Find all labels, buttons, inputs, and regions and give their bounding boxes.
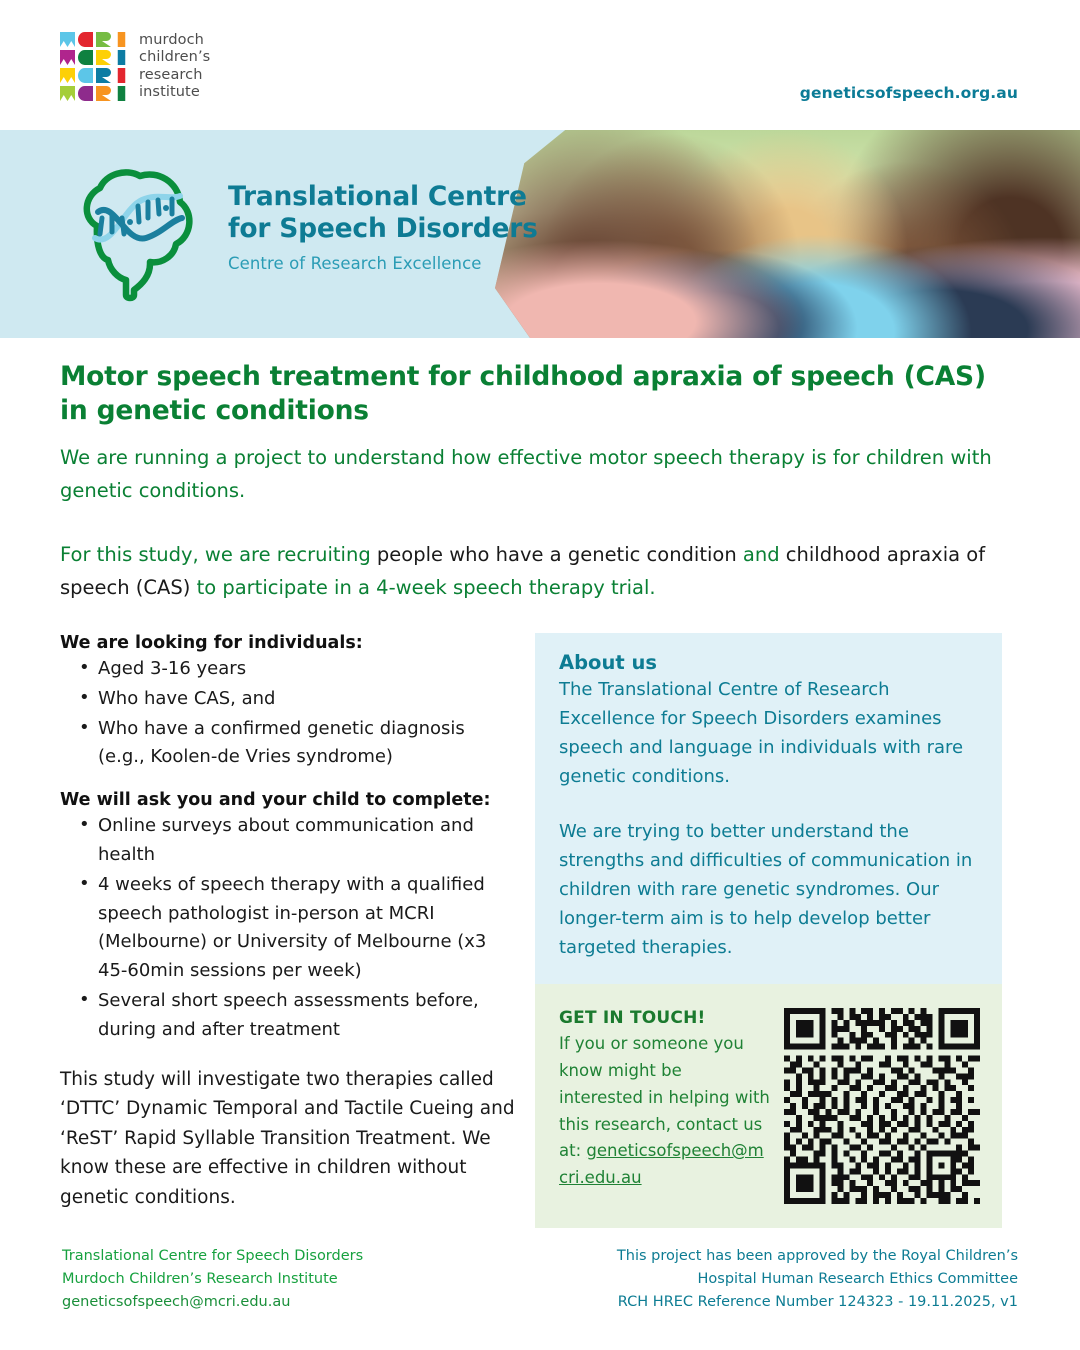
- complete-heading: We will ask you and your child to comple…: [60, 790, 517, 810]
- get-in-touch-text: GET IN TOUCH! If you or someone you know…: [559, 1008, 770, 1204]
- mcri-glyph-i: [114, 50, 129, 65]
- spacer: [60, 773, 517, 790]
- get-in-touch-body: If you or someone you know might be inte…: [559, 1031, 770, 1191]
- mcri-glyph-m: [60, 68, 75, 83]
- mcri-glyph-c: [78, 32, 93, 47]
- footer-email[interactable]: geneticsofspeech@mcri.edu.au: [62, 1291, 363, 1314]
- mcri-glyph-m: [60, 32, 75, 47]
- footer-ethics-line3: RCH HREC Reference Number 124323 - 19.11…: [617, 1291, 1018, 1314]
- tcsd-subtitle: Centre of Research Excellence: [228, 254, 538, 273]
- mcri-logo-wordmark: murdoch children’s research institute: [139, 32, 210, 100]
- closing-paragraph: This study will investigate two therapie…: [60, 1065, 517, 1213]
- footer: Translational Centre for Speech Disorder…: [0, 1245, 1080, 1314]
- footer-ethics-line1: This project has been approved by the Ro…: [617, 1245, 1018, 1268]
- top-bar: murdoch children’s research institute ge…: [0, 0, 1080, 130]
- mcri-word-2: children’s: [139, 49, 210, 66]
- mcri-word-1: murdoch: [139, 32, 210, 49]
- list-item: Several short speech assessments before,…: [62, 987, 517, 1045]
- list-item: Online surveys about communication and h…: [62, 812, 517, 870]
- tcsd-title-line1: Translational Centre: [228, 181, 538, 213]
- qr-code-image: [784, 1008, 980, 1204]
- get-in-touch-panel: GET IN TOUCH! If you or someone you know…: [535, 984, 1002, 1228]
- recruit-seg-1: For this study, we are recruiting: [60, 543, 377, 566]
- mcri-glyph-c: [78, 68, 93, 83]
- list-item: Who have CAS, and: [62, 685, 517, 714]
- mcri-logo-grid: [60, 32, 129, 101]
- complete-list: Online surveys about communication and h…: [62, 812, 517, 1044]
- website-url[interactable]: geneticsofspeech.org.au: [800, 84, 1018, 102]
- mcri-glyph-r: [96, 32, 111, 47]
- mcri-word-3: research: [139, 67, 210, 84]
- list-item: Who have a confirmed genetic diagnosis (…: [62, 715, 517, 773]
- recruit-seg-5: to participate in a 4-week speech therap…: [197, 576, 656, 599]
- qr-code[interactable]: [784, 1008, 980, 1204]
- mcri-glyph-r: [96, 68, 111, 83]
- list-item: Aged 3-16 years: [62, 655, 517, 684]
- footer-org-name: Translational Centre for Speech Disorder…: [62, 1245, 363, 1268]
- looking-for-heading: We are looking for individuals:: [60, 633, 517, 653]
- mcri-glyph-m: [60, 50, 75, 65]
- mcri-glyph-i: [114, 32, 129, 47]
- recruit-seg-2: people who have a genetic condition: [377, 543, 743, 566]
- about-us-heading: About us: [559, 651, 980, 674]
- intro-paragraph: We are running a project to understand h…: [60, 441, 1020, 508]
- mcri-glyph-m: [60, 86, 75, 101]
- two-column-layout: We are looking for individuals: Aged 3-1…: [60, 633, 1020, 1228]
- footer-ethics-approval: This project has been approved by the Ro…: [617, 1245, 1018, 1314]
- tcsd-logo: Translational Centre for Speech Disorder…: [62, 152, 538, 302]
- footer-contact: Translational Centre for Speech Disorder…: [62, 1245, 363, 1314]
- about-us-panel: About us The Translational Centre of Res…: [535, 633, 1002, 984]
- banner: Translational Centre for Speech Disorder…: [0, 130, 1080, 338]
- list-item: 4 weeks of speech therapy with a qualifi…: [62, 871, 517, 986]
- right-column: About us The Translational Centre of Res…: [535, 633, 1002, 1228]
- mcri-glyph-i: [114, 68, 129, 83]
- mcri-glyph-r: [96, 86, 111, 101]
- mcri-glyph-c: [78, 50, 93, 65]
- tcsd-title-line2: for Speech Disorders: [228, 213, 538, 245]
- contact-email-link[interactable]: geneticsofspeech@mcri.edu.au: [559, 1141, 764, 1187]
- mcri-logo[interactable]: murdoch children’s research institute: [60, 32, 210, 101]
- page-title: Motor speech treatment for childhood apr…: [60, 360, 1020, 429]
- recruitment-paragraph: For this study, we are recruiting people…: [60, 538, 1020, 605]
- children-photo: [495, 130, 1080, 338]
- mcri-glyph-r: [96, 50, 111, 65]
- mcri-glyph-c: [78, 86, 93, 101]
- footer-institute-name: Murdoch Children’s Research Institute: [62, 1268, 363, 1291]
- looking-for-list: Aged 3-16 years Who have CAS, and Who ha…: [62, 655, 517, 772]
- get-in-touch-heading: GET IN TOUCH!: [559, 1008, 770, 1028]
- tcsd-wordmark: Translational Centre for Speech Disorder…: [228, 181, 538, 273]
- brain-dna-icon: [62, 152, 212, 302]
- mcri-glyph-i: [114, 86, 129, 101]
- about-us-paragraph-2: We are trying to better understand the s…: [559, 817, 980, 963]
- main-content: Motor speech treatment for childhood apr…: [0, 338, 1080, 1228]
- mcri-word-4: institute: [139, 84, 210, 101]
- footer-ethics-line2: Hospital Human Research Ethics Committee: [617, 1268, 1018, 1291]
- recruit-seg-3: and: [743, 543, 786, 566]
- about-us-paragraph-1: The Translational Centre of Research Exc…: [559, 675, 980, 792]
- left-column: We are looking for individuals: Aged 3-1…: [60, 633, 535, 1228]
